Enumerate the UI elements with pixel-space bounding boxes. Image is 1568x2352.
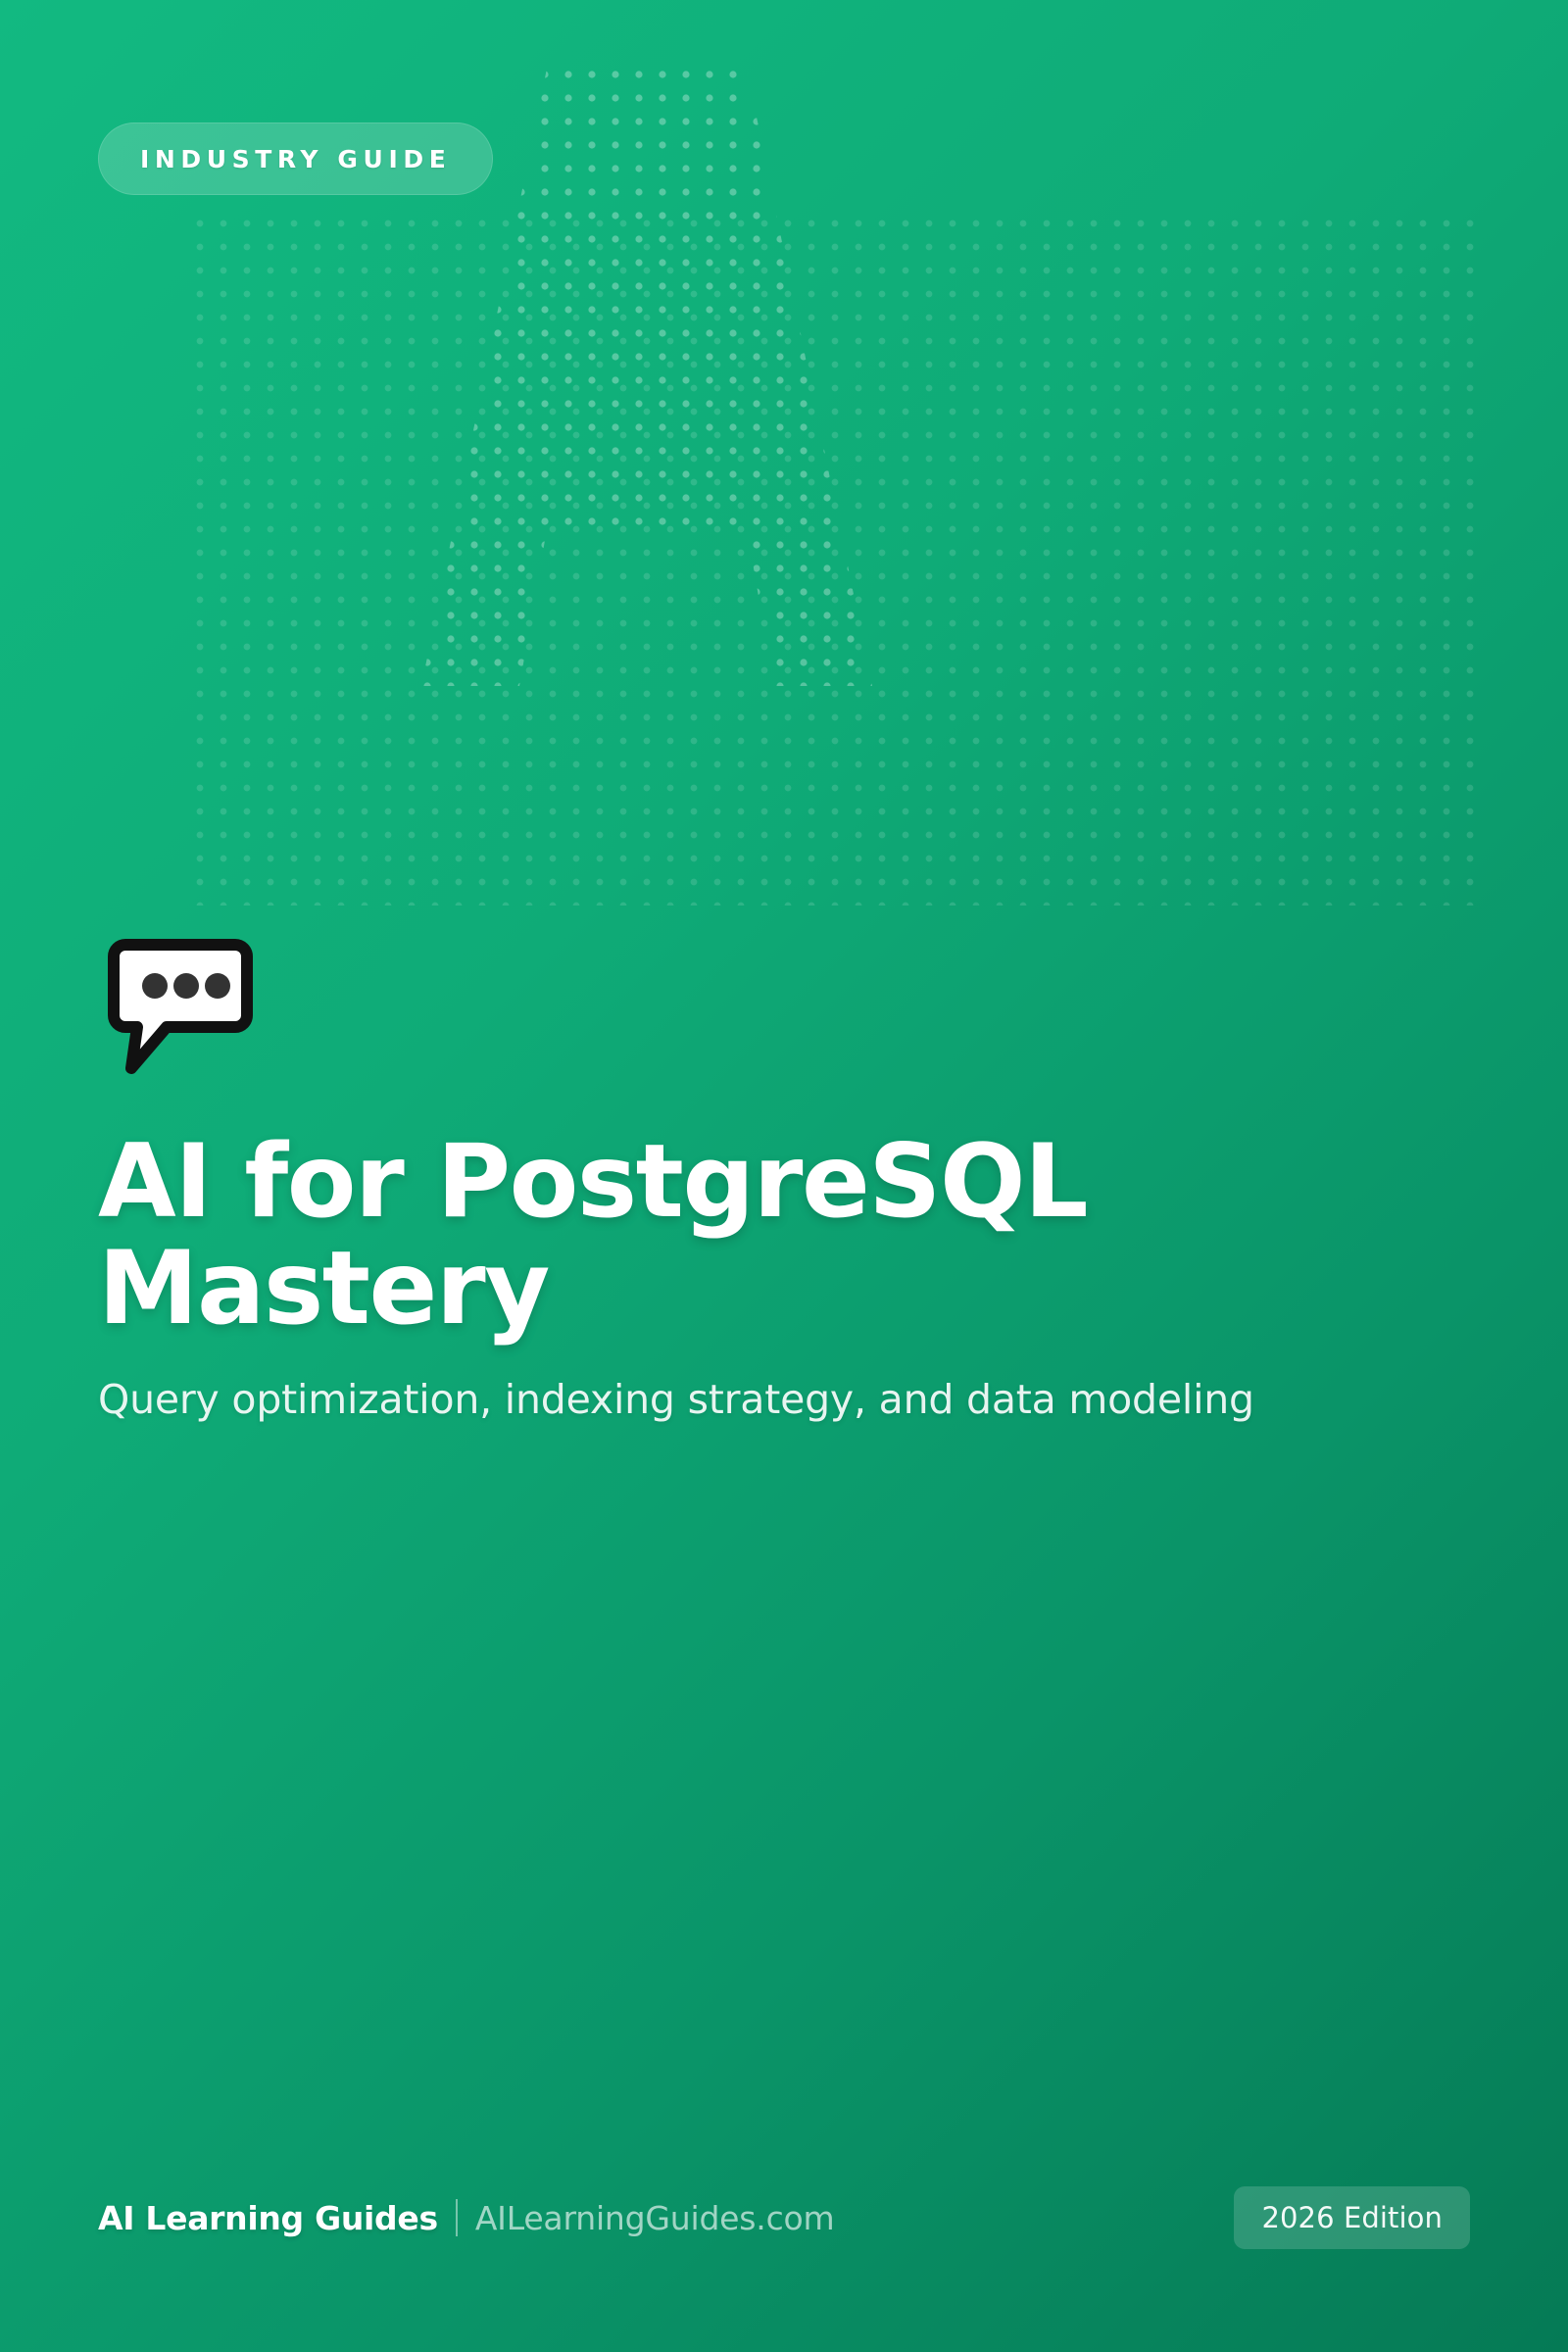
- page-title: AI for PostgreSQL Mastery: [98, 1129, 1333, 1343]
- watermark-letter-a: [0, 0, 1294, 686]
- brand-name: AI Learning Guides: [98, 2199, 438, 2237]
- brand-divider: [456, 2199, 458, 2236]
- brand-website: AILearningGuides.com: [475, 2199, 835, 2237]
- book-cover: INDUSTRY GUIDE AI for PostgreSQL Mastery…: [0, 0, 1568, 2352]
- chat-bubble-dots-icon: [108, 939, 253, 1076]
- page-subtitle: Query optimization, indexing strategy, a…: [98, 1374, 1333, 1426]
- title-block: AI for PostgreSQL Mastery Query optimiza…: [98, 1129, 1333, 1427]
- dot-grid-texture: [196, 220, 1490, 906]
- edition-badge[interactable]: 2026 Edition: [1234, 2186, 1470, 2249]
- category-badge[interactable]: INDUSTRY GUIDE: [98, 122, 493, 195]
- cover-footer: AI Learning Guides AILearningGuides.com …: [98, 2181, 1470, 2254]
- brand-line: AI Learning Guides AILearningGuides.com: [98, 2199, 834, 2237]
